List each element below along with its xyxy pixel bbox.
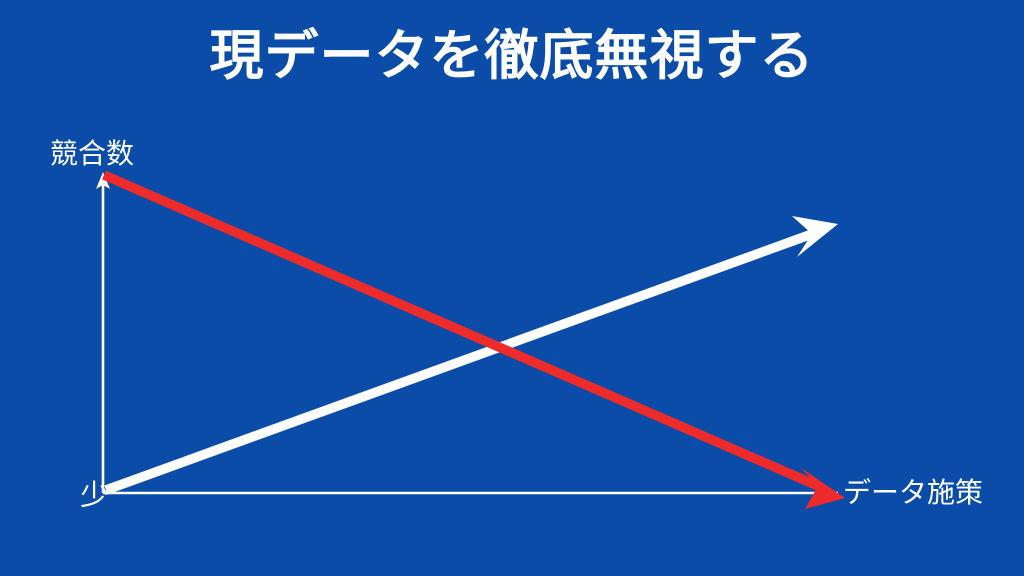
- axis-origin-label: 少: [80, 480, 109, 512]
- y-axis-label: 競合数: [50, 138, 134, 170]
- red-falling-arrow-icon: [104, 175, 845, 509]
- slide-canvas: 現データを徹底無視する 競合数 少 データ施策: [0, 0, 1024, 576]
- x-axis-label: データ施策: [843, 477, 983, 509]
